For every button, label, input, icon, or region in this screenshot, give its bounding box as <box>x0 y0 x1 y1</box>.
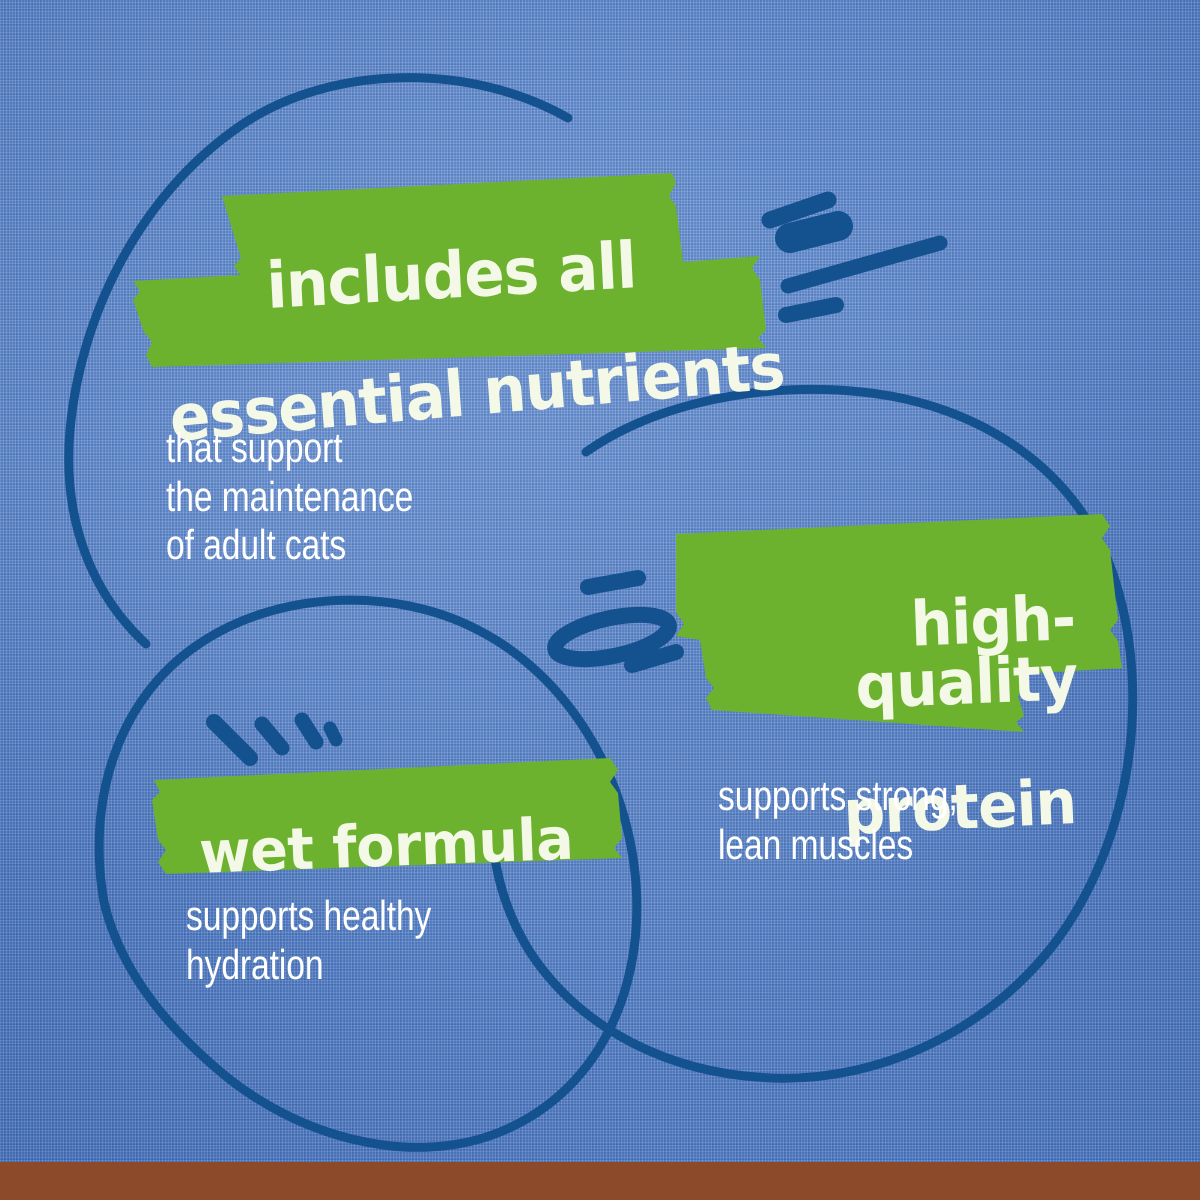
dash-top-right-3 <box>788 243 940 286</box>
dash-top-right-2 <box>790 226 838 238</box>
badge-headline-protein-line1: high-quality <box>698 588 1078 722</box>
dash-wet-1 <box>214 722 250 758</box>
dash-wet-3 <box>302 720 316 742</box>
badge-headline-nutrients-line1: includes all <box>265 228 787 319</box>
bottom-brown-band <box>0 1162 1200 1200</box>
badge-headline-wet-formula: wet formula <box>196 756 574 882</box>
body-copy-nutrients: that support the maintenance of adult ca… <box>166 424 413 570</box>
body-copy-protein: supports strong, lean muscles <box>718 772 958 869</box>
dash-mid-1 <box>588 578 638 587</box>
poster-canvas: includes all essential nutrients high-qu… <box>0 0 1200 1200</box>
body-copy-wet-formula: supports healthy hydration <box>186 892 431 989</box>
dash-wet-2 <box>262 724 282 748</box>
badge-headline-wet-formula-line1: wet formula <box>198 804 575 886</box>
dash-top-right-4 <box>786 305 836 315</box>
dash-wet-4 <box>330 728 336 740</box>
